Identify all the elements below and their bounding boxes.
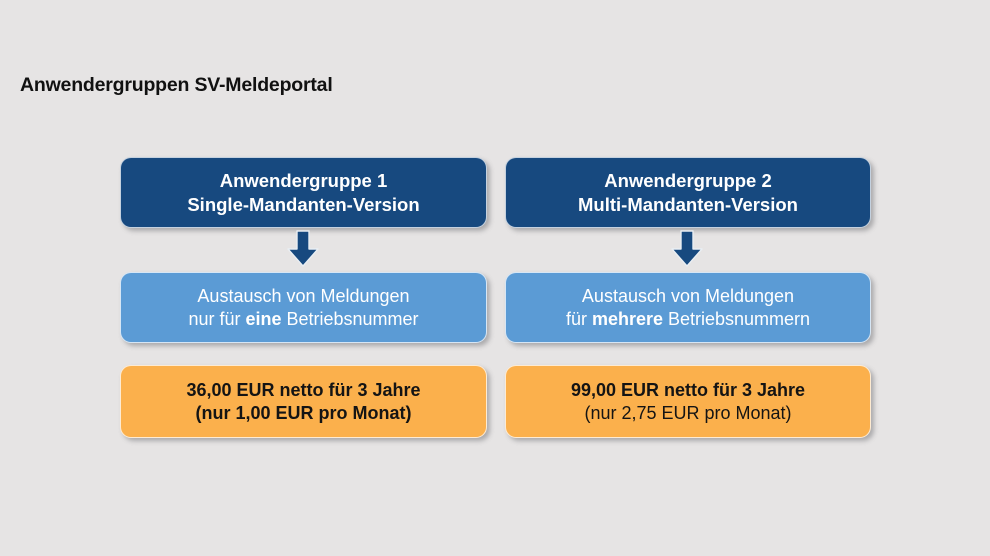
cost-box-1-line1: 36,00 EUR netto für 3 Jahre [186,379,420,402]
scope-box-anwendergruppe-2: Austausch von Meldungen für mehrere Betr… [505,272,871,343]
header-box-1-line2: Single-Mandanten-Version [187,193,419,216]
arrow-down-icon-column-2 [671,230,703,267]
scope-box-2-line1: Austausch von Meldungen [582,285,794,308]
page-title: Anwendergruppen SV-Meldeportal [20,74,333,97]
scope-box-anwendergruppe-1: Austausch von Meldungen nur für eine Bet… [120,272,487,343]
scope-box-2-line2-emphasis: mehrere [592,309,663,329]
cost-box-anwendergruppe-1: 36,00 EUR netto für 3 Jahre (nur 1,00 EU… [120,365,487,438]
scope-box-1-line1: Austausch von Meldungen [197,285,409,308]
cost-box-1-line2: (nur 1,00 EUR pro Monat) [195,402,411,425]
scope-box-1-line2-prefix: nur für [188,309,245,329]
header-box-2-line2: Multi-Mandanten-Version [578,193,798,216]
cost-box-2-line2: (nur 2,75 EUR pro Monat) [584,402,791,425]
header-box-2-line1: Anwendergruppe 2 [604,169,772,192]
scope-box-1-line2-emphasis: eine [245,309,281,329]
scope-box-1-line2-suffix: Betriebsnummer [282,309,419,329]
arrow-down-icon-column-1 [287,230,319,267]
scope-box-2-line2: für mehrere Betriebsnummern [566,308,810,331]
header-box-anwendergruppe-2: Anwendergruppe 2 Multi-Mandanten-Version [505,157,871,228]
scope-box-1-line2: nur für eine Betriebsnummer [188,308,418,331]
slide-canvas: Anwendergruppen SV-Meldeportal Anwenderg… [0,0,990,556]
header-box-1-line1: Anwendergruppe 1 [220,169,388,192]
scope-box-2-line2-suffix: Betriebsnummern [663,309,810,329]
cost-box-2-line1: 99,00 EUR netto für 3 Jahre [571,379,805,402]
header-box-anwendergruppe-1: Anwendergruppe 1 Single-Mandanten-Versio… [120,157,487,228]
scope-box-2-line2-prefix: für [566,309,592,329]
cost-box-anwendergruppe-2: 99,00 EUR netto für 3 Jahre (nur 2,75 EU… [505,365,871,438]
